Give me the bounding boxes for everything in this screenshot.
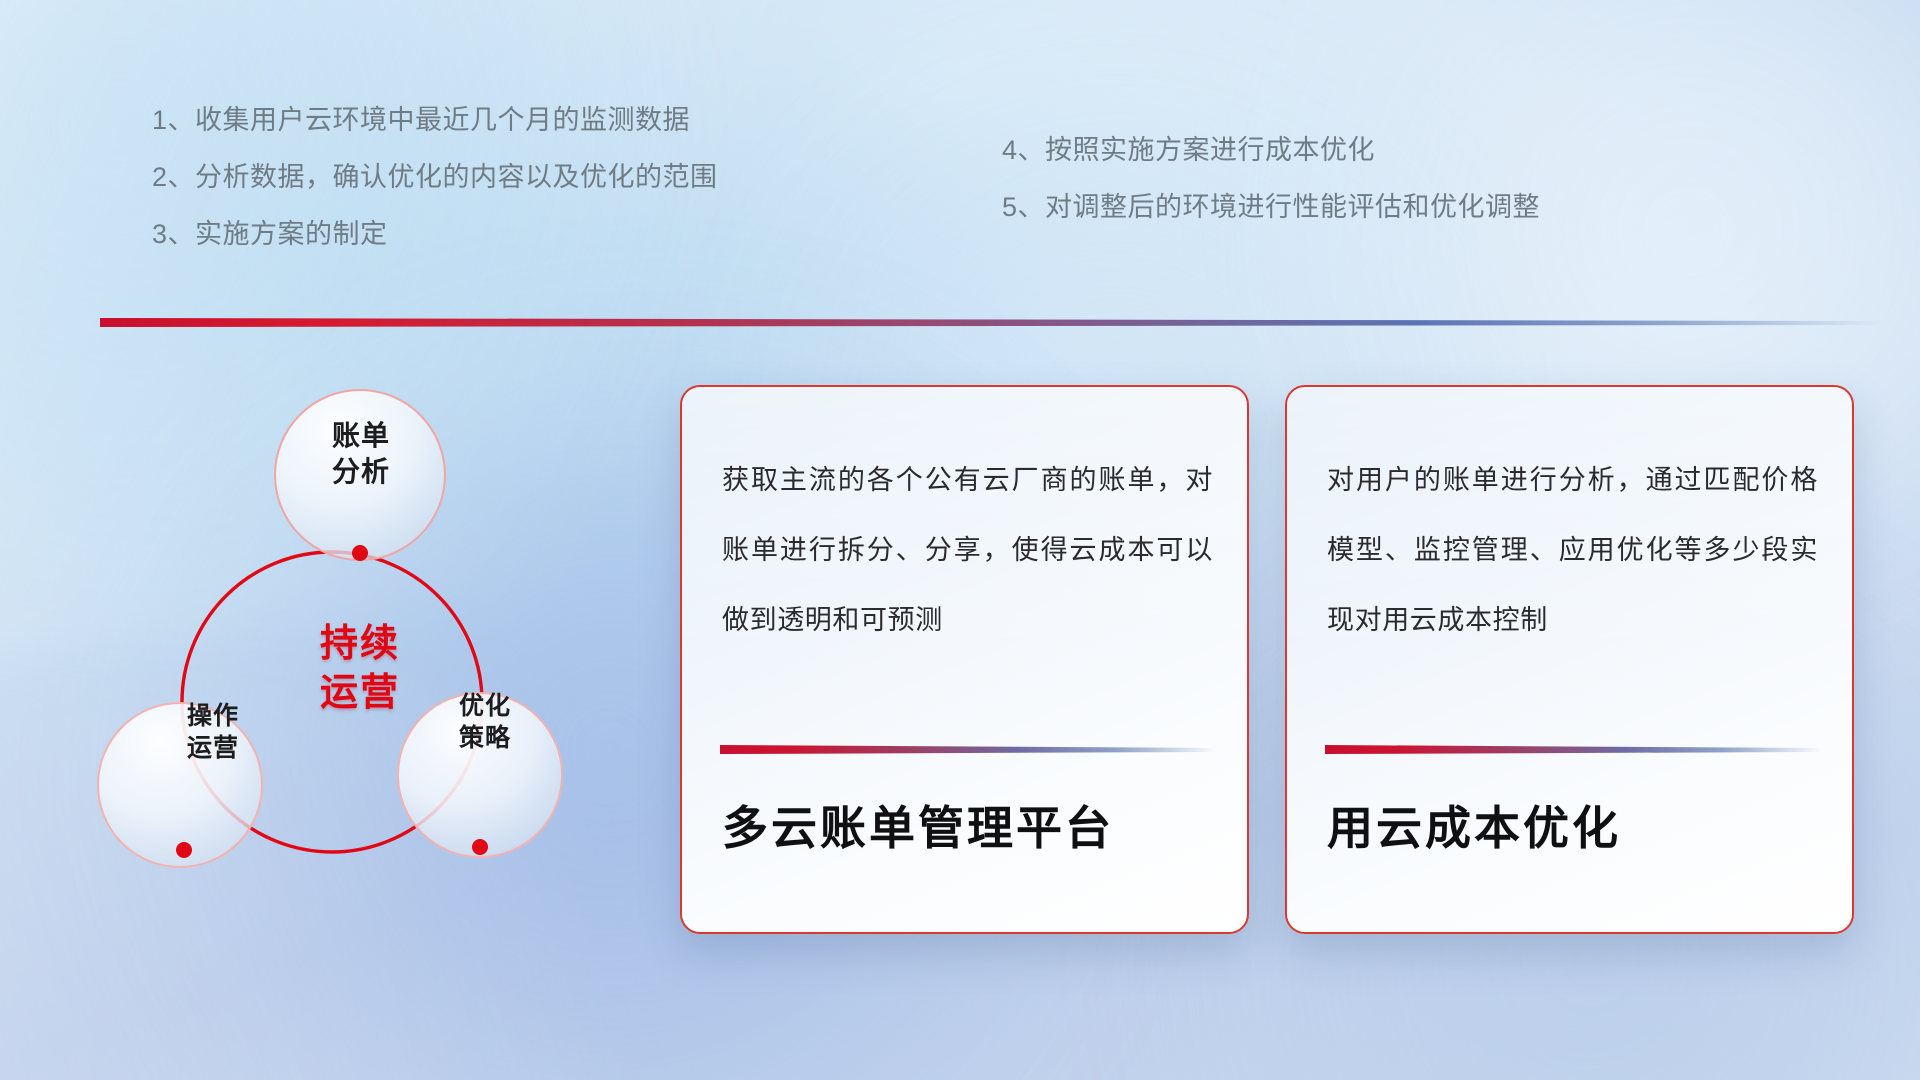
venn-label-line: 分析 bbox=[286, 454, 436, 490]
card-title: 多云账单管理平台 bbox=[722, 792, 1217, 858]
venn-node-bottom-left bbox=[176, 842, 192, 858]
card-accent-rule bbox=[720, 745, 1217, 754]
venn-diagram: 账单 分析 持续 运营 操作 运营 优化 策略 bbox=[90, 350, 570, 940]
card-accent-rule bbox=[1325, 745, 1822, 754]
venn-label-line: 策略 bbox=[410, 722, 560, 754]
venn-center-line: 持续 bbox=[270, 620, 450, 669]
bullet-item-4: 4、按照实施方案进行成本优化 bbox=[1002, 122, 1540, 179]
venn-label-line: 操作 bbox=[138, 700, 288, 732]
venn-label-optimization-strategy: 优化 策略 bbox=[410, 690, 560, 754]
bullet-item-2: 2、分析数据，确认优化的内容以及优化的范围 bbox=[152, 149, 718, 206]
venn-label-line: 账单 bbox=[286, 418, 436, 454]
bullet-column-right: 4、按照实施方案进行成本优化 5、对调整后的环境进行性能评估和优化调整 bbox=[1002, 122, 1540, 236]
bullet-column-left: 1、收集用户云环境中最近几个月的监测数据 2、分析数据，确认优化的内容以及优化的… bbox=[152, 92, 718, 263]
bullet-item-1: 1、收集用户云环境中最近几个月的监测数据 bbox=[152, 92, 718, 149]
section-divider bbox=[100, 318, 1882, 327]
venn-node-top bbox=[352, 545, 368, 561]
card-body-text: 获取主流的各个公有云厂商的账单，对账单进行拆分、分享，使得云成本可以做到透明和可… bbox=[722, 445, 1213, 655]
card-title: 用云成本优化 bbox=[1327, 792, 1822, 858]
slide-canvas: 1、收集用户云环境中最近几个月的监测数据 2、分析数据，确认优化的内容以及优化的… bbox=[0, 0, 1920, 1080]
venn-label-bill-analysis: 账单 分析 bbox=[286, 418, 436, 490]
card-body-text: 对用户的账单进行分析，通过匹配价格模型、监控管理、应用优化等多少段实现对用云成本… bbox=[1327, 445, 1818, 655]
bullet-item-3: 3、实施方案的制定 bbox=[152, 206, 718, 263]
bullet-item-5: 5、对调整后的环境进行性能评估和优化调整 bbox=[1002, 179, 1540, 236]
venn-label-line: 运营 bbox=[138, 732, 288, 764]
divider-bar bbox=[100, 318, 1882, 327]
venn-node-bottom-right bbox=[472, 839, 488, 855]
card-multi-cloud-bill-platform[interactable]: 获取主流的各个公有云厂商的账单，对账单进行拆分、分享，使得云成本可以做到透明和可… bbox=[680, 385, 1249, 934]
venn-label-line: 优化 bbox=[410, 690, 560, 722]
card-cloud-cost-optimization[interactable]: 对用户的账单进行分析，通过匹配价格模型、监控管理、应用优化等多少段实现对用云成本… bbox=[1285, 385, 1854, 934]
venn-label-operations: 操作 运营 bbox=[138, 700, 288, 764]
